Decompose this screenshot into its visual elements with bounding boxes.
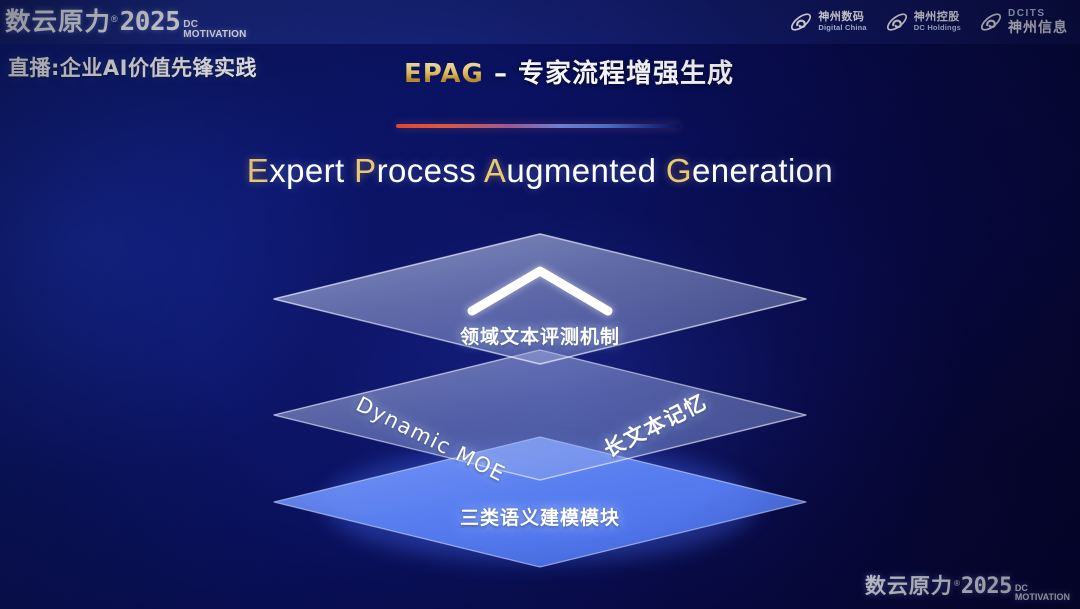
- subtitle-cap-p: P: [354, 152, 376, 189]
- page-title-separator: –: [484, 59, 518, 89]
- swirl-logo-icon: [885, 10, 909, 34]
- swirl-logo-icon: [789, 10, 813, 34]
- page-title: EPAG – 专家流程增强生成: [0, 53, 1080, 90]
- partner-logo-dcits: DCITS 神州信息: [979, 9, 1068, 34]
- subtitle-word-augmented: ugmented: [506, 152, 666, 189]
- subtitle-word-expert: xpert: [269, 152, 354, 189]
- layer-middle[interactable]: [274, 350, 806, 480]
- partner-logo-dc-holdings: 神州控股 DC Holdings: [885, 10, 961, 34]
- watermark-motivation: MOTIVATION: [1015, 593, 1070, 601]
- partner-logo-group: 神州数码 Digital China 神州控股 DC Holdings: [789, 9, 1072, 34]
- layer-top-label: 领域文本评测机制: [258, 322, 822, 349]
- brand-logo: 数云原力 ® 2025 DC MOTIVATION: [6, 2, 247, 41]
- watermark-name-cn: 数云原力: [865, 570, 953, 600]
- partner-logo-digital-china: 神州数码 Digital China: [789, 10, 866, 34]
- title-divider-rule: [396, 124, 680, 128]
- partner-name: DCITS 神州信息: [1008, 9, 1068, 34]
- partner-name: 神州数码 Digital China: [818, 12, 866, 31]
- partner-name-en: DC Holdings: [914, 24, 961, 32]
- header-bar: 数云原力 ® 2025 DC MOTIVATION 神州数码 Digital C…: [0, 0, 1080, 44]
- brand-name-cn: 数云原力: [5, 2, 111, 38]
- swirl-logo-icon: [979, 10, 1003, 34]
- brand-motivation: MOTIVATION: [183, 30, 246, 39]
- subtitle-cap-g: G: [666, 152, 692, 189]
- page-title-chinese: 专家流程增强生成: [518, 59, 734, 89]
- subtitle-word-generation: eneration: [692, 152, 833, 189]
- subtitle-cap-e: E: [247, 152, 269, 189]
- layer-stack-diagram: 领域文本评测机制 Dynamic MOE 长文本记忆 三类语义建模模块: [258, 222, 822, 572]
- layer-middle-plate: [274, 350, 806, 480]
- partner-name: 神州控股 DC Holdings: [914, 12, 961, 31]
- page-title-acronym: EPAG: [404, 59, 484, 89]
- footer-watermark-logo: 数云原力 ® 2025 DC MOTIVATION: [865, 570, 1070, 603]
- watermark-registered-mark: ®: [954, 579, 960, 588]
- partner-name-en: Digital China: [818, 24, 866, 32]
- brand-dc-motivation: DC MOTIVATION: [183, 20, 246, 38]
- subtitle-word-process: rocess: [377, 152, 484, 189]
- brand-year: 2025: [120, 7, 181, 37]
- slide-canvas: 数云原力 ® 2025 DC MOTIVATION 神州数码 Digital C…: [0, 0, 1080, 609]
- layer-bottom-label: 三类语义建模模块: [258, 503, 822, 530]
- brand-registered-mark: ®: [111, 14, 118, 24]
- subtitle-cap-a: A: [484, 152, 506, 189]
- subtitle-expansion: Expert Process Augmented Generation: [0, 152, 1080, 190]
- watermark-dc-motivation: DC MOTIVATION: [1015, 584, 1070, 601]
- watermark-year: 2025: [961, 574, 1012, 599]
- partner-name-zh: 神州信息: [1008, 20, 1068, 35]
